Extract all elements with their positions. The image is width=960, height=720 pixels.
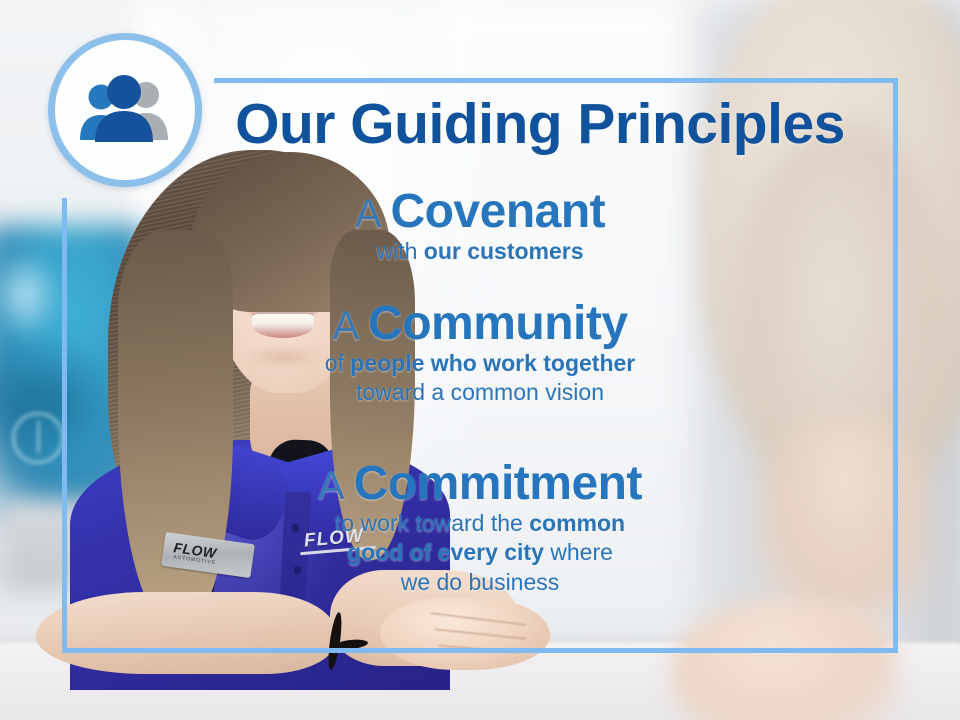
frame-border-top (214, 78, 898, 83)
blurred-person-neck (760, 420, 930, 620)
shirt-button-bottom (294, 566, 301, 573)
frame-border-right (893, 78, 898, 653)
window-light-center (430, 0, 730, 620)
blurred-vw-emblem (12, 412, 64, 464)
blurred-person-hand (670, 600, 900, 720)
subject-smile (252, 312, 314, 338)
shirt-button-top (292, 524, 299, 531)
people-group-badge (48, 33, 202, 187)
people-group-icon (73, 74, 177, 146)
frame-border-bottom (62, 648, 898, 653)
frame-border-left (62, 198, 67, 653)
subject-clasped-hands (380, 598, 550, 670)
guiding-principles-graphic: FLOW AUTOMOTIVE FLOW (0, 0, 960, 720)
subject-chin-shadow (244, 348, 324, 370)
subject-forearm-left (36, 592, 336, 674)
blurred-car-highlight (0, 250, 60, 340)
